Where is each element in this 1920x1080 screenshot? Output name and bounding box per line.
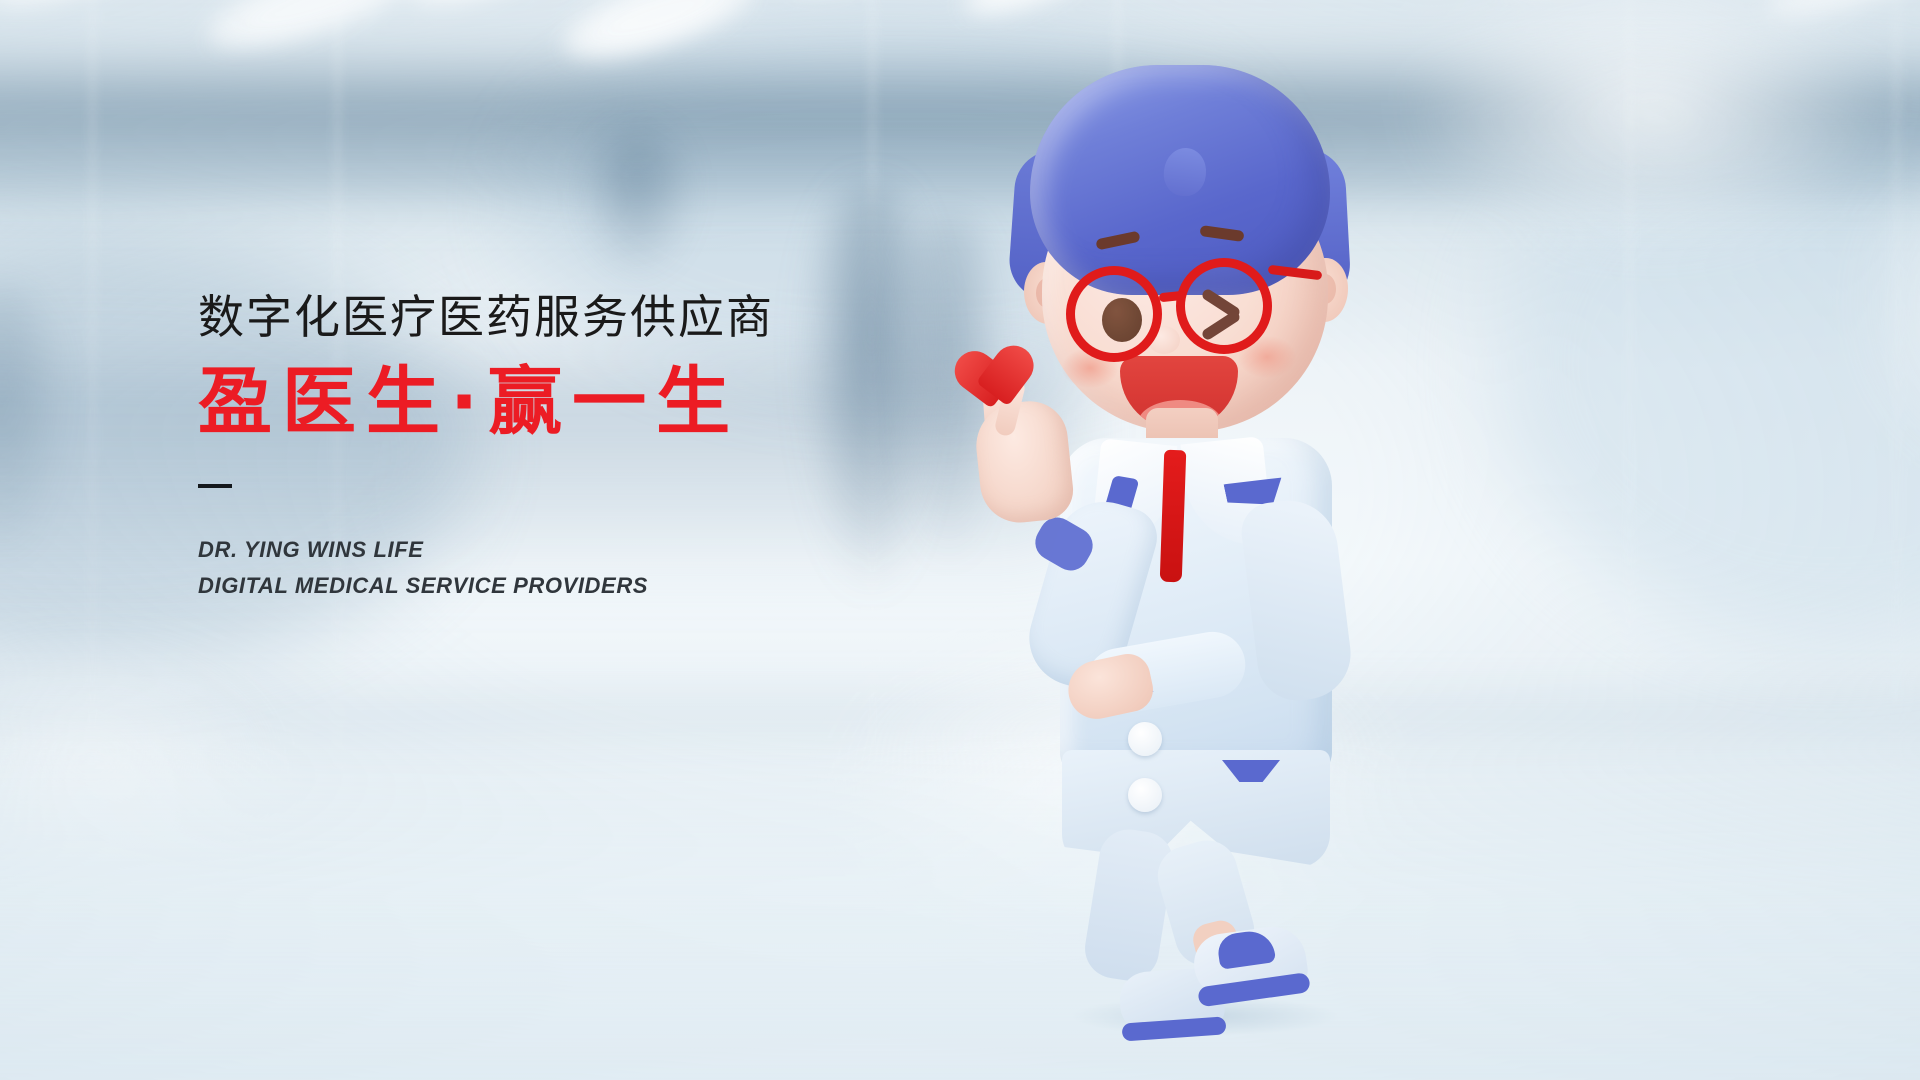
hero-banner: 数字化医疗医药服务供应商 盈医生·赢一生 DR. YING WINS LIFE …: [0, 0, 1920, 1080]
divider-rule: [198, 484, 232, 488]
doctor-mascot-illustration: [950, 30, 1510, 1040]
hero-copy: 数字化医疗医药服务供应商 盈医生·赢一生 DR. YING WINS LIFE …: [198, 290, 1018, 603]
subtitle-line-2: DIGITAL MEDICAL SERVICE PROVIDERS: [198, 568, 1018, 604]
page-title: 数字化医疗医药服务供应商: [198, 290, 1018, 344]
heart-icon: [968, 318, 1042, 387]
glasses-icon-left-lens: [1066, 266, 1162, 362]
coat-button-bottom: [1128, 778, 1162, 812]
tie: [1160, 450, 1187, 583]
glasses-icon-right-lens: [1176, 258, 1272, 354]
hand-finger-heart-gesture: [972, 398, 1076, 527]
subtitle-line-1: DR. YING WINS LIFE: [198, 532, 1018, 568]
subtitle-english: DR. YING WINS LIFE DIGITAL MEDICAL SERVI…: [198, 532, 1018, 603]
slogan: 盈医生·赢一生: [198, 360, 1018, 446]
coat-button-top: [1128, 722, 1162, 756]
